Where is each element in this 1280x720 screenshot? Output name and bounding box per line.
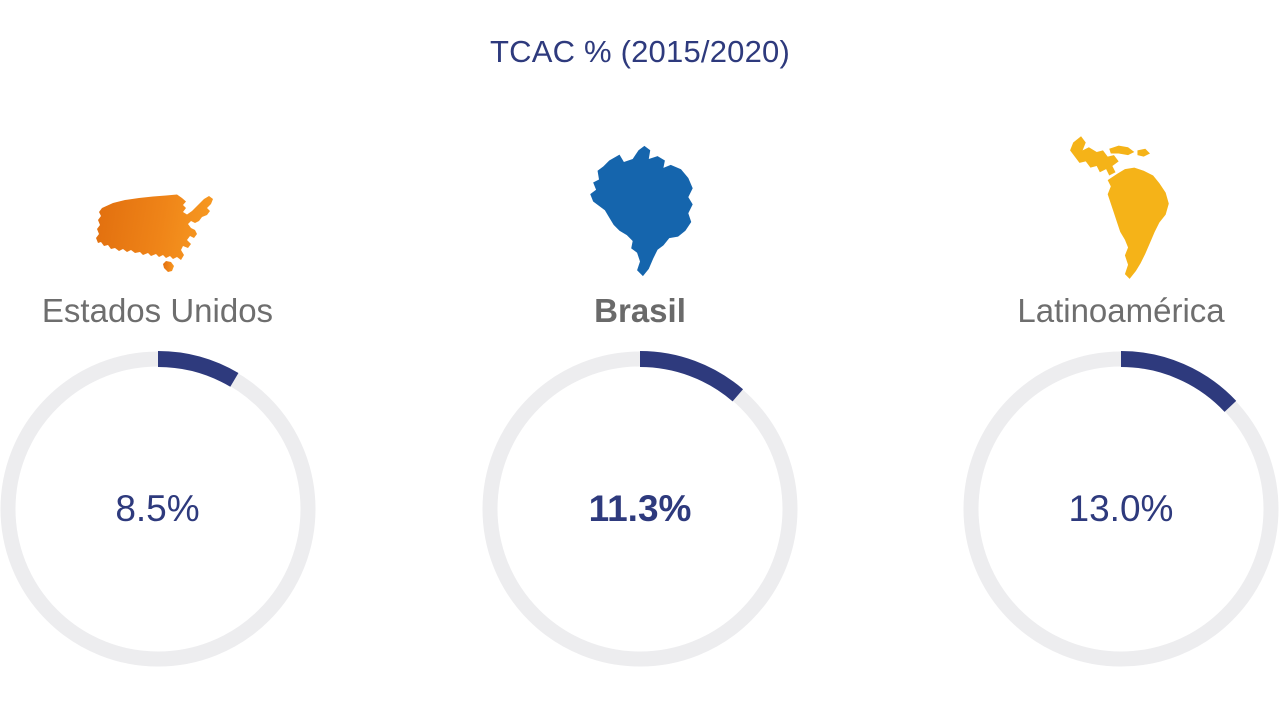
gauge-estados-unidos: 8.5%: [0, 351, 316, 667]
gauge-latinoamerica: 13.0%: [963, 351, 1279, 667]
united-states-map-icon: [0, 122, 315, 282]
gauge-brasil: 11.3%: [482, 351, 798, 667]
region-column-latinoamerica: Latinoamérica 13.0%: [962, 0, 1280, 667]
gauge-value-brasil: 11.3%: [482, 351, 798, 667]
region-column-brasil: Brasil 11.3%: [480, 0, 800, 667]
region-label-brasil: Brasil: [594, 294, 686, 329]
region-label-estados-unidos: Estados Unidos: [42, 294, 273, 329]
gauge-value-latinoamerica: 13.0%: [963, 351, 1279, 667]
region-label-latinoamerica: Latinoamérica: [1017, 294, 1224, 329]
gauge-columns: Estados Unidos 8.5% Brasil 11.3%: [0, 0, 1280, 720]
brazil-map-icon: [480, 122, 800, 282]
region-column-estados-unidos: Estados Unidos 8.5%: [0, 0, 315, 667]
latin-america-map-icon: [962, 122, 1280, 282]
gauge-value-estados-unidos: 8.5%: [0, 351, 316, 667]
